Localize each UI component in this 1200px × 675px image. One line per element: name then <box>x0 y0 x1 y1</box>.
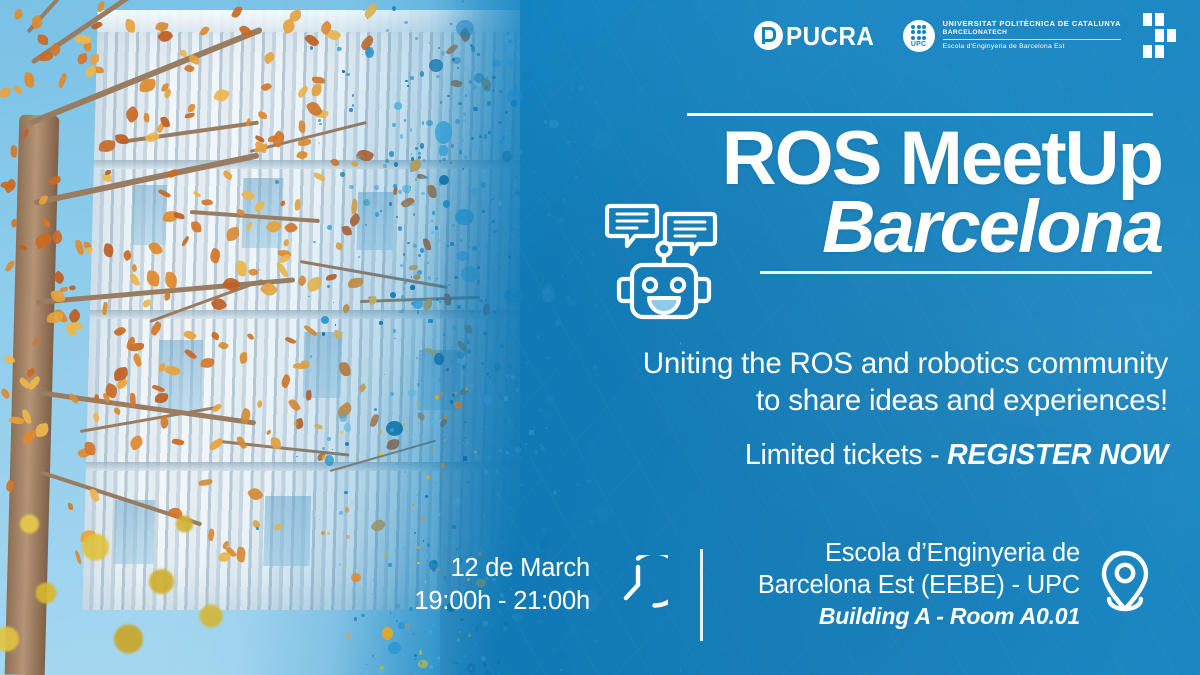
event-date: 12 de March <box>414 552 590 585</box>
venue-line-1: Escola d’Enginyeria de <box>758 538 1080 570</box>
venue-line-2: Barcelona Est (EEBE) - UPC <box>758 570 1080 602</box>
register-now-cta[interactable]: REGISTER NOW <box>947 439 1168 471</box>
upc-seal-icon: UPC <box>903 20 935 52</box>
title-line-barcelona: Barcelona <box>822 190 1166 264</box>
upc-university-name: UNIVERSITAT POLITÈCNICA DE CATALUNYA <box>943 20 1121 29</box>
building-floor-band <box>94 160 520 169</box>
upc-dot-grid-icon <box>911 25 926 40</box>
building-window <box>357 192 395 250</box>
subtitle-line-1: Uniting the ROS and robotics community <box>520 345 1168 382</box>
robot-chat-icon <box>605 199 723 321</box>
tickets-prefix: Limited tickets - <box>745 439 947 471</box>
event-where-text: Escola d’Enginyeria de Barcelona Est (EE… <box>758 538 1080 632</box>
venue-room: Building A - Room A0.01 <box>758 601 1080 632</box>
upc-logo[interactable]: UPC UNIVERSITAT POLITÈCNICA DE CATALUNYA… <box>903 20 1121 52</box>
building-window <box>417 350 461 410</box>
footer-divider <box>700 549 703 641</box>
pucra-logo[interactable]: PUCRA <box>754 21 881 50</box>
upc-seal-label: UPC <box>911 41 926 48</box>
event-when-text: 12 de March 19:00h - 21:00h <box>414 552 590 617</box>
upc-school-name: Escola d'Enginyeria de Barcelona Est <box>943 43 1121 51</box>
upc-logo-text: UNIVERSITAT POLITÈCNICA DE CATALUNYA BAR… <box>943 20 1121 51</box>
building-window <box>242 178 284 248</box>
location-pin-icon <box>1096 549 1154 621</box>
clock-icon <box>608 555 668 615</box>
subtitle-line-2: to share ideas and experiences! <box>520 382 1168 419</box>
pucra-wordmark: PUCRA <box>786 23 874 49</box>
upc-divider <box>943 39 1121 40</box>
headline-rule-bottom <box>760 271 1152 274</box>
tickets-line[interactable]: Limited tickets - REGISTER NOW <box>520 438 1168 472</box>
event-time: 19:00h - 21:00h <box>414 585 590 618</box>
subtitle: Uniting the ROS and robotics community t… <box>520 345 1168 419</box>
event-when-block: 12 de March 19:00h - 21:00h <box>380 552 668 617</box>
headline-block: ROS MeetUp Barcelona <box>600 113 1166 274</box>
event-where-block: Escola d’Enginyeria de Barcelona Est (EE… <box>712 538 1154 632</box>
eebe-blocks-icon <box>1143 13 1176 58</box>
upc-barcelonatech: BARCELONATECH <box>943 29 1121 37</box>
pucra-badge-icon <box>754 21 783 50</box>
headline-rule-top <box>687 113 1153 116</box>
logo-bar: PUCRA UPC UNIVERSITAT POLITÈCNICA DE CAT… <box>754 13 1176 58</box>
event-poster: PUCRA UPC UNIVERSITAT POLITÈCNICA DE CAT… <box>0 0 1200 675</box>
yellow-foliage <box>0 455 310 675</box>
